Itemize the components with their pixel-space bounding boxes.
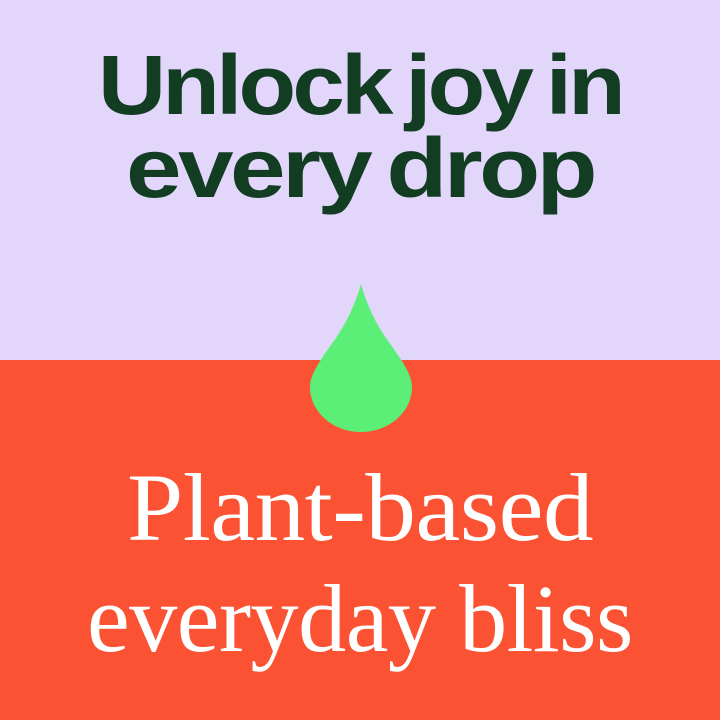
subheadline-line-2: everyday bliss xyxy=(0,563,720,674)
subheadline: Plant-based everyday bliss xyxy=(0,452,720,675)
subheadline-line-1: Plant-based xyxy=(0,452,720,563)
poster-canvas: Unlock joy in every drop Plant-based eve… xyxy=(0,0,720,720)
headline-line-1: Unlock joy in xyxy=(0,44,720,127)
water-droplet-icon xyxy=(310,284,412,432)
water-droplet-shape xyxy=(310,284,412,432)
headline: Unlock joy in every drop xyxy=(0,44,720,209)
headline-line-2: every drop xyxy=(0,127,720,210)
